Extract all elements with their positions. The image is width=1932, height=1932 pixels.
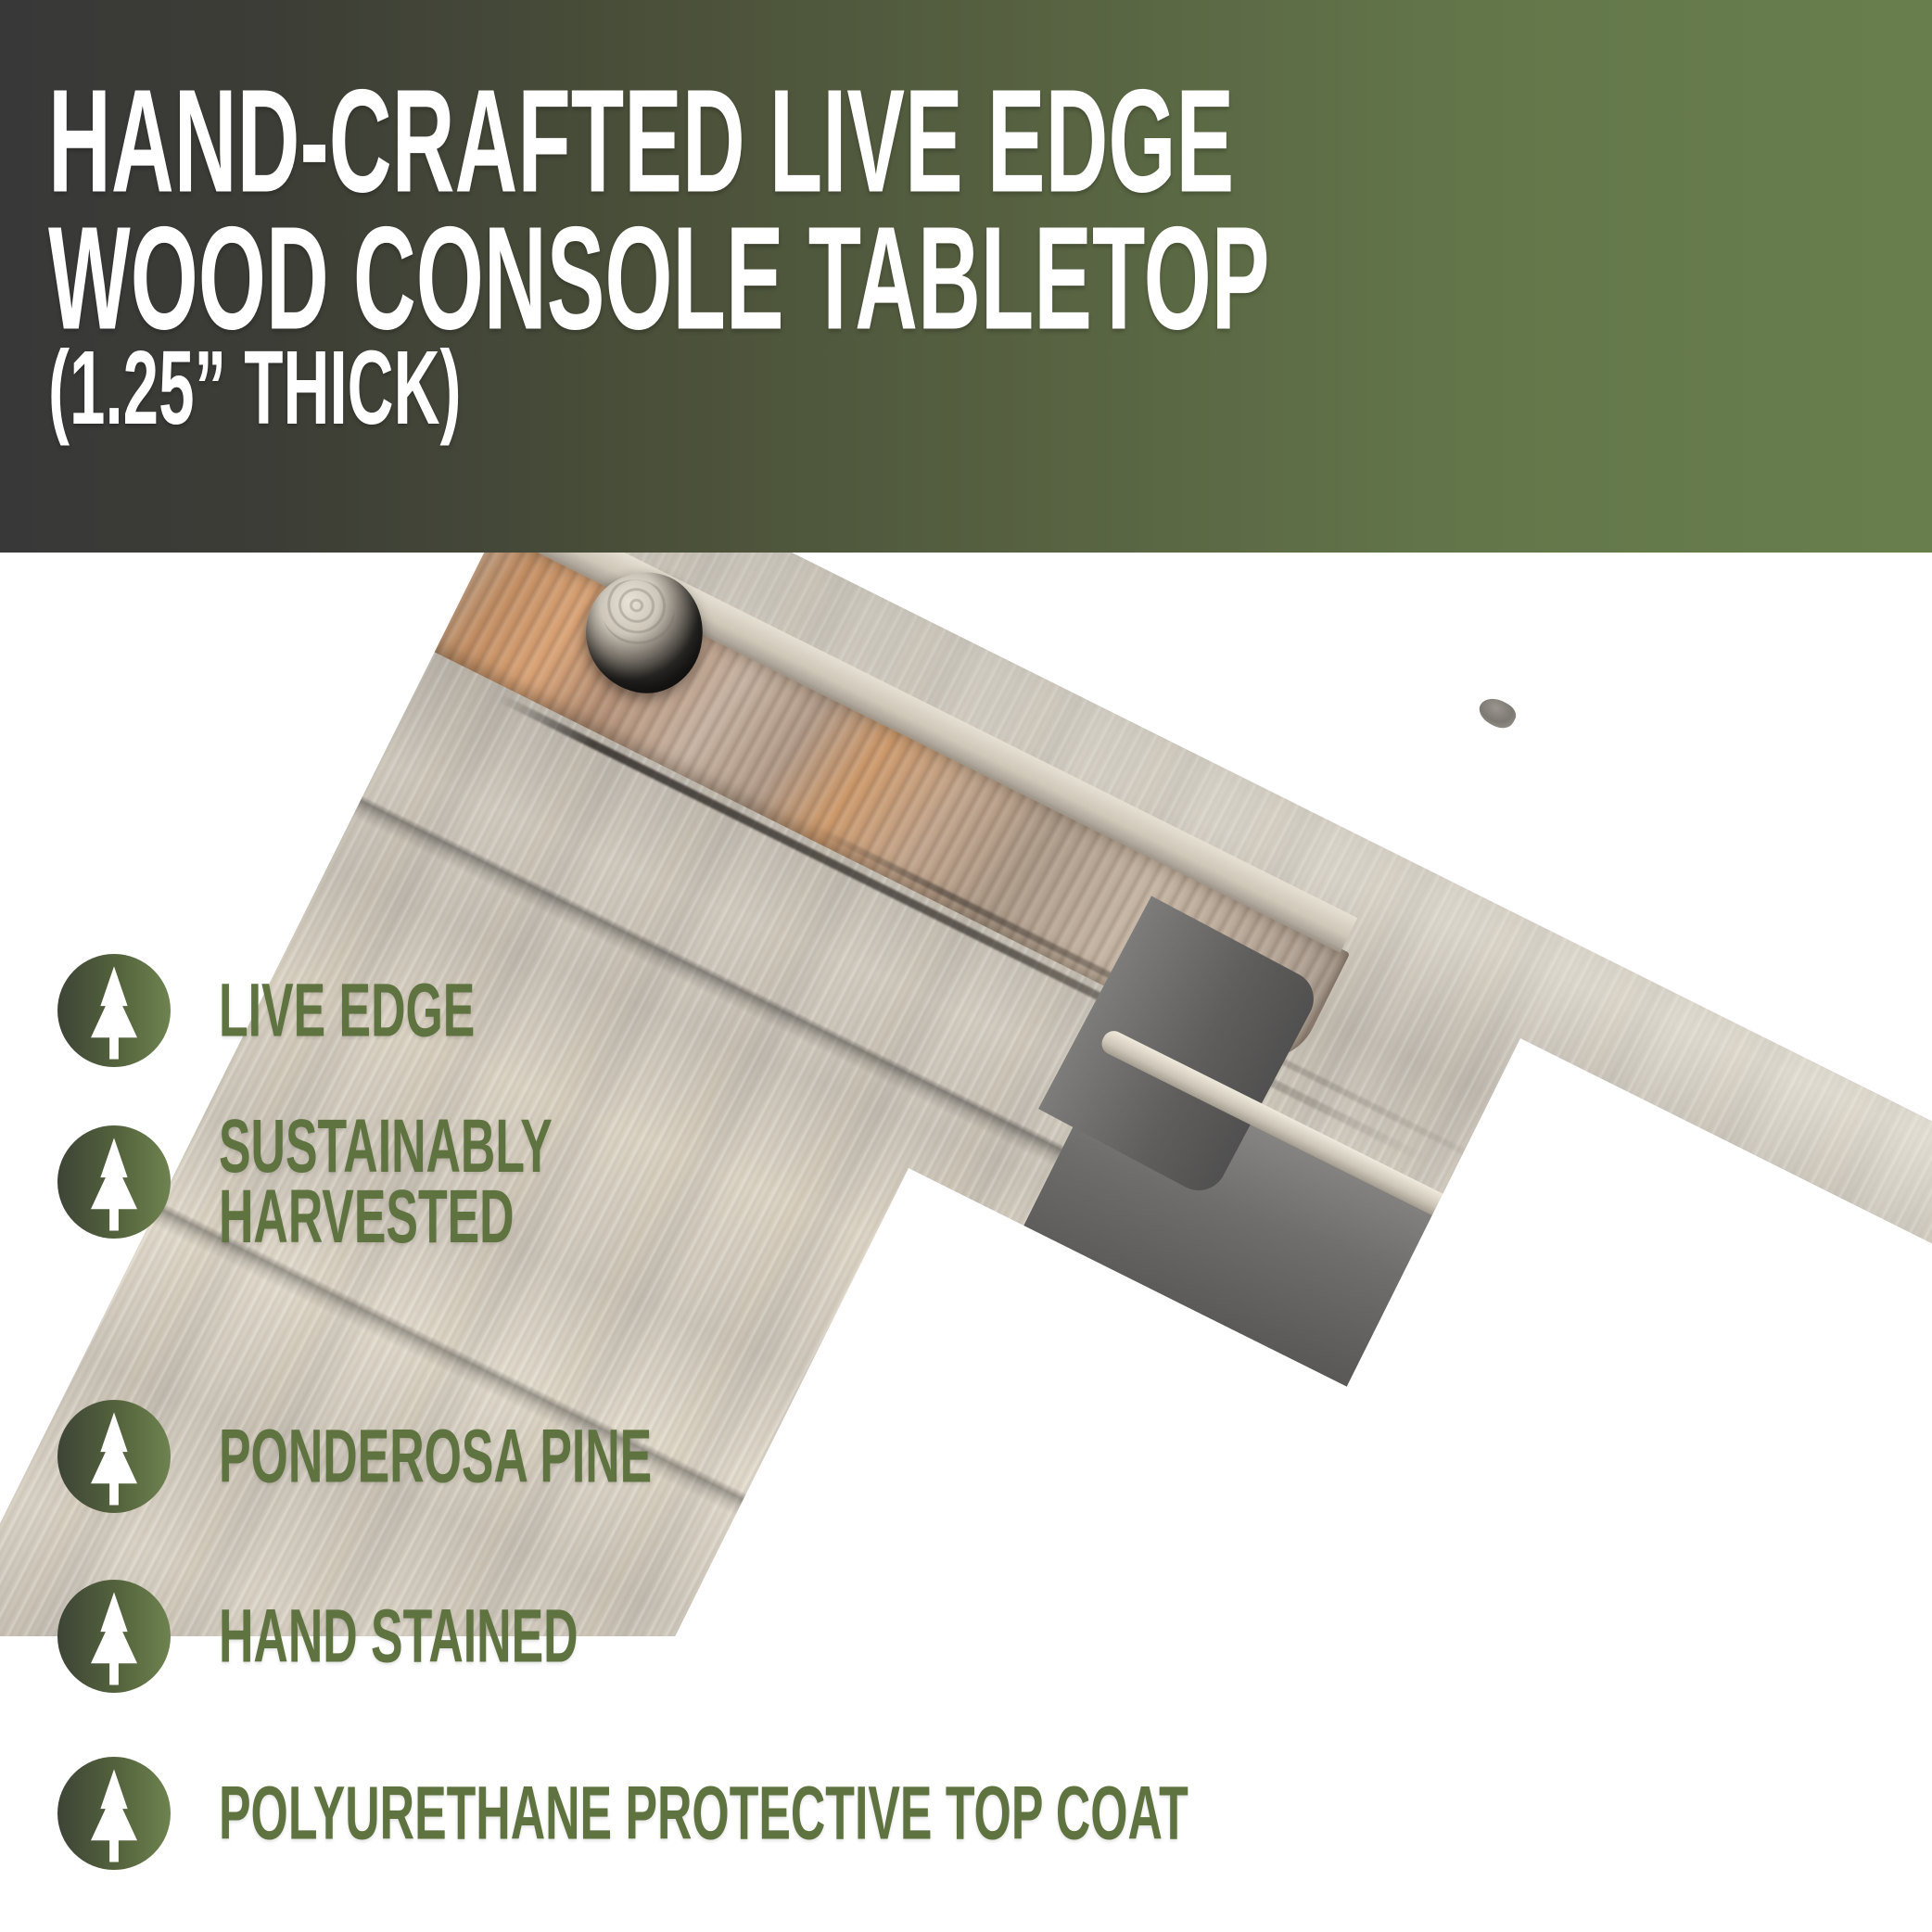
- feature-label: HAND STAINED: [219, 1601, 578, 1671]
- pine-tree-icon: [57, 1580, 171, 1693]
- page-subtitle-thickness: (1.25” THICK): [48, 326, 462, 448]
- header-banner: HAND-CRAFTED LIVE EDGE WOOD CONSOLE TABL…: [0, 0, 1932, 553]
- feature-item-ponderosa-pine[interactable]: PONDEROSA PINE: [57, 1400, 837, 1513]
- feature-label: POLYURETHANE PROTECTIVE TOP COAT: [219, 1778, 1188, 1849]
- pine-tree-icon: [57, 1125, 171, 1239]
- feature-item-live-edge[interactable]: LIVE EDGE: [57, 954, 585, 1067]
- feature-item-sustainably-harvested[interactable]: SUSTAINABLY HARVESTED: [57, 1118, 695, 1246]
- feature-label: LIVE EDGE: [219, 975, 475, 1046]
- feature-item-hand-stained[interactable]: HAND STAINED: [57, 1580, 732, 1693]
- feature-item-polyurethane-top-coat[interactable]: POLYURETHANE PROTECTIVE TOP COAT: [57, 1757, 1604, 1870]
- feature-label: SUSTAINABLY HARVESTED: [219, 1112, 553, 1252]
- wood-pit: [1475, 693, 1520, 733]
- feature-label: PONDEROSA PINE: [219, 1421, 652, 1492]
- pine-tree-icon: [57, 1400, 171, 1513]
- pine-tree-icon: [57, 1757, 171, 1870]
- product-infographic: HAND-CRAFTED LIVE EDGE WOOD CONSOLE TABL…: [0, 0, 1932, 1932]
- pine-tree-icon: [57, 954, 171, 1067]
